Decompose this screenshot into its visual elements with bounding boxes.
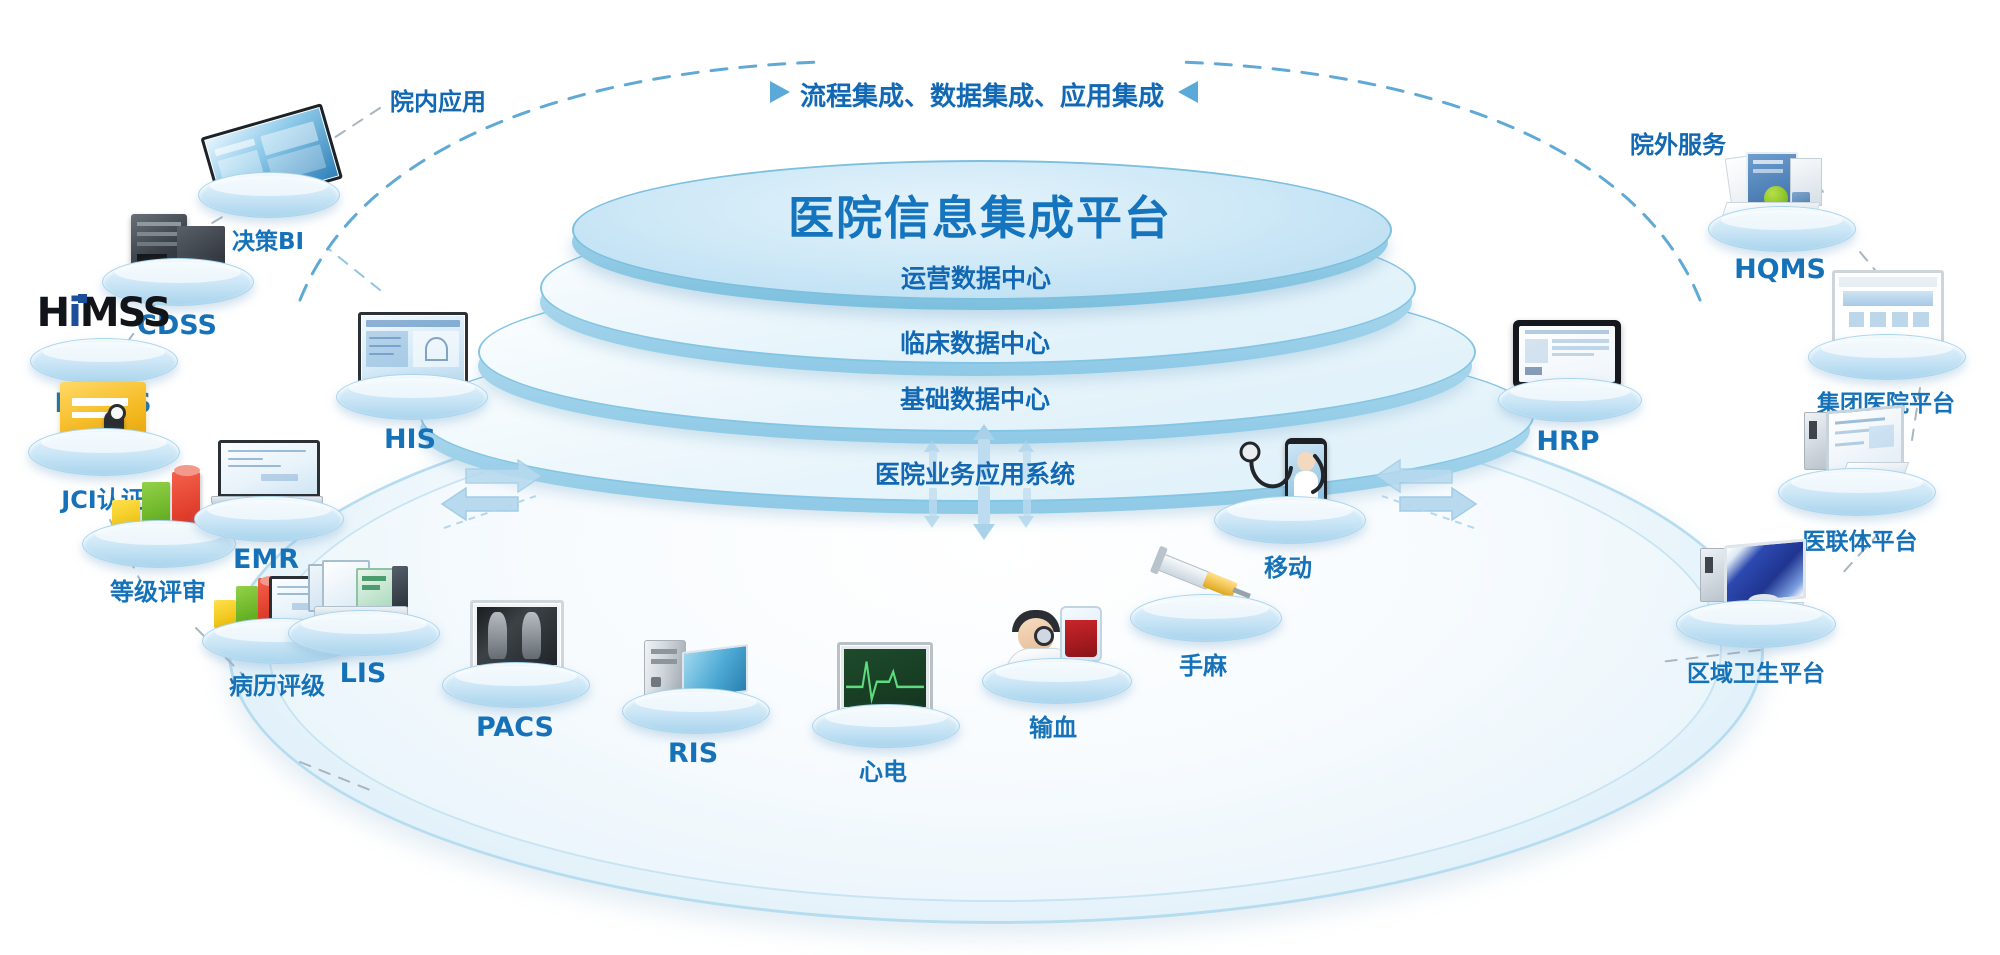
flow-arrow-left-icon [1178, 81, 1198, 103]
node-label: 手麻 [1179, 646, 1227, 681]
integration-flow-label: 流程集成、数据集成、应用集成 [800, 76, 1164, 113]
pedestal [1498, 378, 1642, 422]
flow-arrow-right-icon [770, 81, 790, 103]
node-label: 心电 [859, 752, 907, 787]
node-emr[interactable]: EMR [176, 440, 356, 570]
pedestal [1778, 468, 1936, 516]
pedestal [288, 610, 440, 656]
tier-label-operational: 运营数据中心 [540, 259, 1412, 295]
node-label: RIS [668, 738, 718, 769]
node-blood-transfusion[interactable]: 输血 [968, 604, 1138, 734]
tier-label-basic: 基础数据中心 [420, 380, 1530, 416]
pedestal [194, 496, 344, 542]
node-label: LIS [340, 658, 387, 689]
pedestal [1130, 594, 1282, 642]
left-exchange-arrows-icon [432, 448, 692, 578]
node-regional-platform[interactable]: 区域卫生平台 [1656, 540, 1856, 680]
pedestal [1676, 600, 1836, 648]
pedestal [982, 658, 1132, 704]
node-ris[interactable]: RIS [608, 640, 778, 770]
node-label: 区域卫生平台 [1687, 654, 1825, 688]
pedestal [812, 704, 960, 748]
pedestal [1214, 496, 1366, 544]
pedestal [1808, 334, 1966, 380]
node-label: HIS [384, 424, 436, 455]
node-mobile[interactable]: 移动 [1198, 438, 1378, 568]
node-label: PACS [476, 712, 554, 743]
pedestal [30, 338, 178, 384]
node-his[interactable]: HIS [320, 312, 500, 442]
node-hqms[interactable]: HQMS [1690, 150, 1870, 280]
right-exchange-arrows-icon [1368, 448, 1628, 578]
architecture-diagram: 流程集成、数据集成、应用集成 院内应用 院外服务 [0, 0, 2000, 955]
himss-logo-icon: HiMSS [37, 290, 170, 336]
group-label-internal: 院内应用 [390, 82, 486, 117]
pedestal [1708, 206, 1856, 252]
node-ecg[interactable]: 心电 [798, 642, 968, 772]
node-hrp[interactable]: HRP [1478, 320, 1658, 450]
group-label-external: 院外服务 [1630, 125, 1726, 160]
node-label: HRP [1536, 426, 1599, 457]
node-label: 移动 [1264, 548, 1312, 583]
platform-title: 医院信息集成平台 [572, 182, 1388, 248]
node-group-hospital-platform[interactable]: 集团医院平台 [1786, 270, 1986, 410]
node-lis[interactable]: LIS [278, 560, 448, 690]
node-union-platform[interactable]: 医联体平台 [1760, 406, 1960, 546]
pedestal [336, 374, 488, 420]
pedestal [622, 688, 770, 734]
node-pacs[interactable]: PACS [430, 600, 600, 730]
node-label: 输血 [1029, 708, 1077, 743]
tier-label-clinical: 临床数据中心 [478, 324, 1472, 360]
himss-logo-dot [78, 294, 87, 303]
pedestal [442, 662, 590, 708]
